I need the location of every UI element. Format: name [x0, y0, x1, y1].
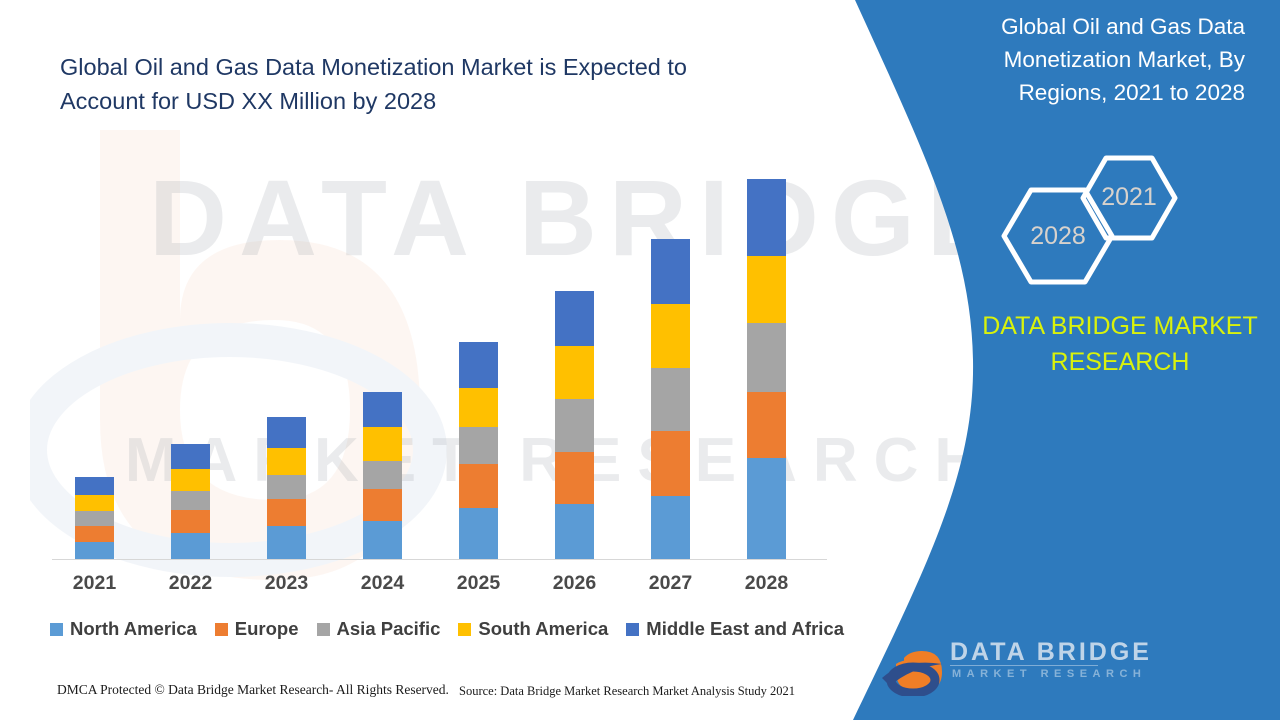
bar-segment-south-america[interactable]	[267, 448, 306, 475]
legend-label: Middle East and Africa	[646, 618, 844, 640]
x-axis-label-2021: 2021	[65, 572, 125, 595]
x-axis-label-2022: 2022	[161, 572, 221, 595]
bar-segment-asia-pacific[interactable]	[651, 368, 690, 432]
logo-text-top: DATA BRIDGE	[950, 638, 1152, 667]
legend-item-north-america[interactable]: North America	[50, 618, 197, 640]
bar-segment-north-america[interactable]	[651, 496, 690, 559]
bar-segment-asia-pacific[interactable]	[459, 427, 498, 463]
legend-item-middle-east-and-africa[interactable]: Middle East and Africa	[626, 618, 844, 640]
bar-segment-middle-east-and-africa[interactable]	[363, 392, 402, 427]
bar-segment-south-america[interactable]	[75, 495, 114, 511]
bar-segment-europe[interactable]	[459, 464, 498, 509]
bar-segment-europe[interactable]	[651, 431, 690, 496]
bar-segment-asia-pacific[interactable]	[555, 399, 594, 452]
brand-name: DATA BRIDGE MARKET RESEARCH	[960, 308, 1280, 380]
x-axis-label-2027: 2027	[641, 572, 701, 595]
x-axis-label-2024: 2024	[353, 572, 413, 595]
bar-2025[interactable]	[459, 342, 498, 559]
legend-label: South America	[478, 618, 608, 640]
bar-segment-south-america[interactable]	[171, 469, 210, 491]
hexagon-back-label: 2028	[1019, 222, 1097, 251]
logo-text-bottom: MARKET RESEARCH	[952, 668, 1146, 680]
footer-copyright: DMCA Protected © Data Bridge Market Rese…	[57, 682, 449, 698]
bar-segment-north-america[interactable]	[459, 508, 498, 559]
bar-segment-europe[interactable]	[75, 526, 114, 542]
bar-segment-middle-east-and-africa[interactable]	[267, 417, 306, 447]
bar-segment-north-america[interactable]	[267, 526, 306, 559]
bar-2022[interactable]	[171, 444, 210, 559]
slide-canvas: DATA BRIDGE MARKET RESEARCH Global Oil a…	[0, 0, 1280, 720]
bar-segment-south-america[interactable]	[747, 256, 786, 323]
chart-legend: North AmericaEuropeAsia PacificSouth Ame…	[52, 615, 842, 643]
x-axis-label-2023: 2023	[257, 572, 317, 595]
bar-segment-middle-east-and-africa[interactable]	[555, 291, 594, 347]
legend-swatch-icon	[50, 623, 63, 636]
bar-2026[interactable]	[555, 291, 594, 560]
bar-segment-europe[interactable]	[171, 510, 210, 532]
bar-segment-europe[interactable]	[267, 499, 306, 525]
footer-source: Source: Data Bridge Market Research Mark…	[459, 684, 795, 699]
bar-segment-asia-pacific[interactable]	[267, 475, 306, 499]
bar-segment-middle-east-and-africa[interactable]	[747, 179, 786, 256]
legend-swatch-icon	[458, 623, 471, 636]
hexagon-front-label: 2021	[1095, 183, 1163, 212]
bar-segment-north-america[interactable]	[171, 533, 210, 559]
bar-segment-south-america[interactable]	[651, 304, 690, 368]
bar-segment-asia-pacific[interactable]	[171, 491, 210, 510]
x-axis-label-2025: 2025	[449, 572, 509, 595]
bar-2024[interactable]	[363, 392, 402, 559]
x-axis-line	[52, 559, 827, 560]
bar-segment-europe[interactable]	[747, 392, 786, 458]
hexagon-shapes	[990, 148, 1180, 288]
bar-segment-south-america[interactable]	[363, 427, 402, 460]
legend-swatch-icon	[215, 623, 228, 636]
bar-2023[interactable]	[267, 417, 306, 559]
bar-segment-north-america[interactable]	[75, 542, 114, 559]
legend-item-asia-pacific[interactable]: Asia Pacific	[317, 618, 441, 640]
brand-line-2: RESEARCH	[1051, 348, 1190, 376]
logo-divider	[950, 665, 1098, 666]
data-bridge-mark-icon	[880, 634, 946, 696]
bar-segment-middle-east-and-africa[interactable]	[171, 444, 210, 469]
legend-item-europe[interactable]: Europe	[215, 618, 299, 640]
legend-item-south-america[interactable]: South America	[458, 618, 608, 640]
legend-label: Europe	[235, 618, 299, 640]
bar-segment-south-america[interactable]	[459, 388, 498, 428]
bar-segment-north-america[interactable]	[555, 504, 594, 559]
legend-swatch-icon	[317, 623, 330, 636]
bar-segment-middle-east-and-africa[interactable]	[651, 239, 690, 304]
bar-segment-south-america[interactable]	[555, 346, 594, 399]
bar-segment-middle-east-and-africa[interactable]	[459, 342, 498, 388]
bar-2027[interactable]	[651, 239, 690, 559]
bar-2021[interactable]	[75, 477, 114, 559]
chart-plot-area	[52, 150, 827, 560]
bar-segment-europe[interactable]	[363, 489, 402, 520]
bar-segment-asia-pacific[interactable]	[75, 511, 114, 525]
legend-label: Asia Pacific	[337, 618, 441, 640]
company-logo: DATA BRIDGE MARKET RESEARCH	[880, 634, 1110, 696]
bar-2028[interactable]	[747, 179, 786, 559]
bar-segment-middle-east-and-africa[interactable]	[75, 477, 114, 495]
hexagon-group: 2028 2021	[990, 148, 1180, 288]
legend-label: North America	[70, 618, 197, 640]
x-axis-label-2026: 2026	[545, 572, 605, 595]
bar-segment-europe[interactable]	[555, 452, 594, 505]
bar-segment-asia-pacific[interactable]	[363, 461, 402, 489]
x-axis-labels: 20212022202320242025202620272028	[52, 572, 827, 598]
bar-segment-asia-pacific[interactable]	[747, 323, 786, 392]
bar-segment-north-america[interactable]	[363, 521, 402, 560]
panel-title: Global Oil and Gas Data Monetization Mar…	[945, 10, 1245, 109]
legend-swatch-icon	[626, 623, 639, 636]
brand-line-1: DATA BRIDGE MARKET	[982, 312, 1258, 340]
x-axis-label-2028: 2028	[737, 572, 797, 595]
bar-segment-north-america[interactable]	[747, 458, 786, 559]
page-title: Global Oil and Gas Data Monetization Mar…	[60, 50, 760, 118]
